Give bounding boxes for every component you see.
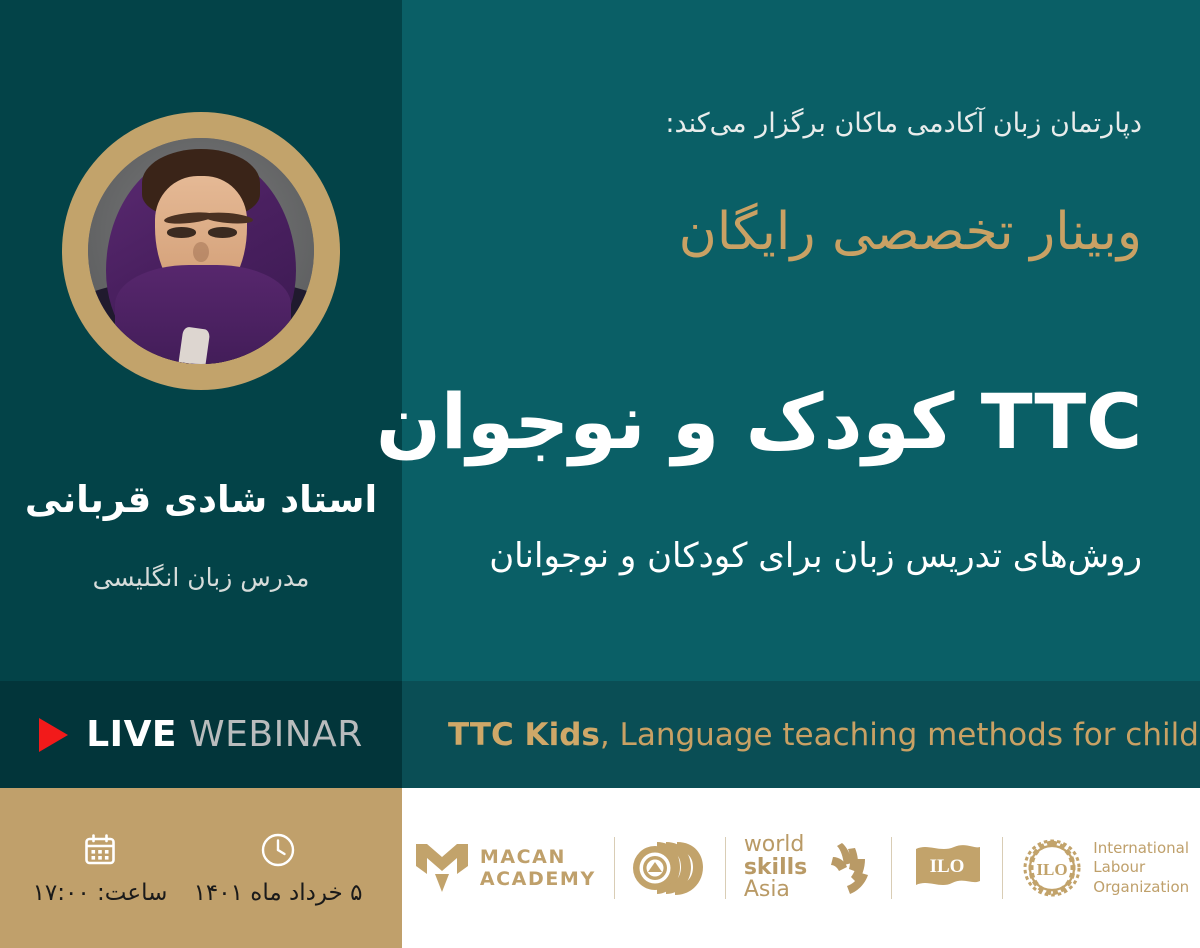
webinar-poster: استاد شادی قربانی مدرس زبان انگلیسی دپار…: [0, 0, 1200, 948]
webinar-label: WEBINAR: [189, 714, 363, 755]
international-labour-organization-logo: ILO International Labour Organization: [1003, 831, 1200, 905]
macan-line-2: ACADEMY: [480, 868, 596, 890]
event-time-text: ساعت: ۱۷:۰۰: [10, 880, 190, 906]
event-date-text: ۵ خرداد ماه ۱۴۰۱: [178, 880, 378, 906]
macan-line-1: MACAN: [480, 846, 566, 868]
tvto-gear-swirl-icon: [633, 837, 707, 899]
worldskills-wordmark: world skills Asia: [744, 834, 807, 902]
speaker-name: استاد شادی قربانی: [0, 478, 402, 521]
portrait-eye-left: [167, 227, 196, 237]
ilo-line-2: Labour: [1093, 858, 1145, 876]
tvto-logo: [615, 831, 725, 905]
english-subtitle: TTC Kids, Language teaching methods for …: [448, 717, 1200, 753]
english-subtitle-rest: , Language teaching methods for children: [600, 717, 1200, 753]
ilo-line-1: International: [1093, 839, 1189, 857]
event-date: ۵ خرداد ماه ۱۴۰۱: [178, 830, 378, 906]
hero-subtitle: روش‌های تدریس زبان برای کودکان و نوجوانا…: [422, 536, 1142, 576]
ws-line-1: world: [744, 832, 805, 857]
poster-footer: ۵ خرداد ماه ۱۴۰۱ ساعت: ۱۷:۰۰: [0, 788, 1200, 948]
ilo-flag-label: ILO: [930, 856, 965, 877]
worldskills-hand-icon: [811, 837, 873, 899]
ilo-line-3: Organization: [1093, 878, 1189, 896]
ilo-emblem-icon: ILO: [1021, 837, 1083, 899]
poster-upper-region: استاد شادی قربانی مدرس زبان انگلیسی دپار…: [0, 0, 1200, 681]
hero-kicker: دپارتمان زبان آکادمی ماکان برگزار می‌کند…: [442, 108, 1142, 139]
live-webinar-band: LIVE WEBINAR TTC Kids, Language teaching…: [0, 681, 1200, 788]
portrait-collar: [178, 326, 210, 364]
hero-panel: [402, 0, 1200, 681]
english-subtitle-bar: TTC Kids, Language teaching methods for …: [402, 681, 1200, 788]
ws-line-2: skills: [744, 857, 807, 880]
speaker-portrait: [62, 112, 340, 390]
ilo-emblem-label: ILO: [1037, 860, 1068, 879]
ws-line-3: Asia: [744, 877, 790, 902]
live-badge: LIVE WEBINAR: [0, 681, 402, 788]
ilo-flag-icon: ILO: [910, 839, 984, 897]
macan-m-mark-icon: [413, 840, 471, 896]
ilo-flag-logo: ILO: [892, 831, 1002, 905]
clock-icon: [178, 830, 378, 870]
live-label: LIVE: [86, 714, 177, 755]
english-subtitle-bold: TTC Kids: [448, 717, 600, 753]
portrait-eye-right: [208, 227, 237, 237]
worldskills-asia-logo: world skills Asia: [726, 831, 891, 905]
play-icon: [39, 718, 68, 752]
speaker-role: مدرس زبان انگلیسی: [0, 563, 402, 592]
hero-title: TTC کودک و نوجوان: [422, 378, 1142, 466]
hero-headline-gold: وبینار تخصصی رایگان: [442, 202, 1142, 262]
macan-academy-wordmark: MACAN ACADEMY: [480, 846, 596, 891]
event-time: ساعت: ۱۷:۰۰: [10, 830, 190, 906]
portrait-photo: [88, 138, 314, 364]
sponsor-logos: MACAN ACADEMY: [402, 788, 1200, 948]
portrait-nose: [193, 242, 209, 262]
ilo-wordmark: International Labour Organization: [1093, 839, 1189, 897]
macan-academy-logo: MACAN ACADEMY: [395, 831, 614, 905]
calendar-icon: [10, 830, 190, 870]
